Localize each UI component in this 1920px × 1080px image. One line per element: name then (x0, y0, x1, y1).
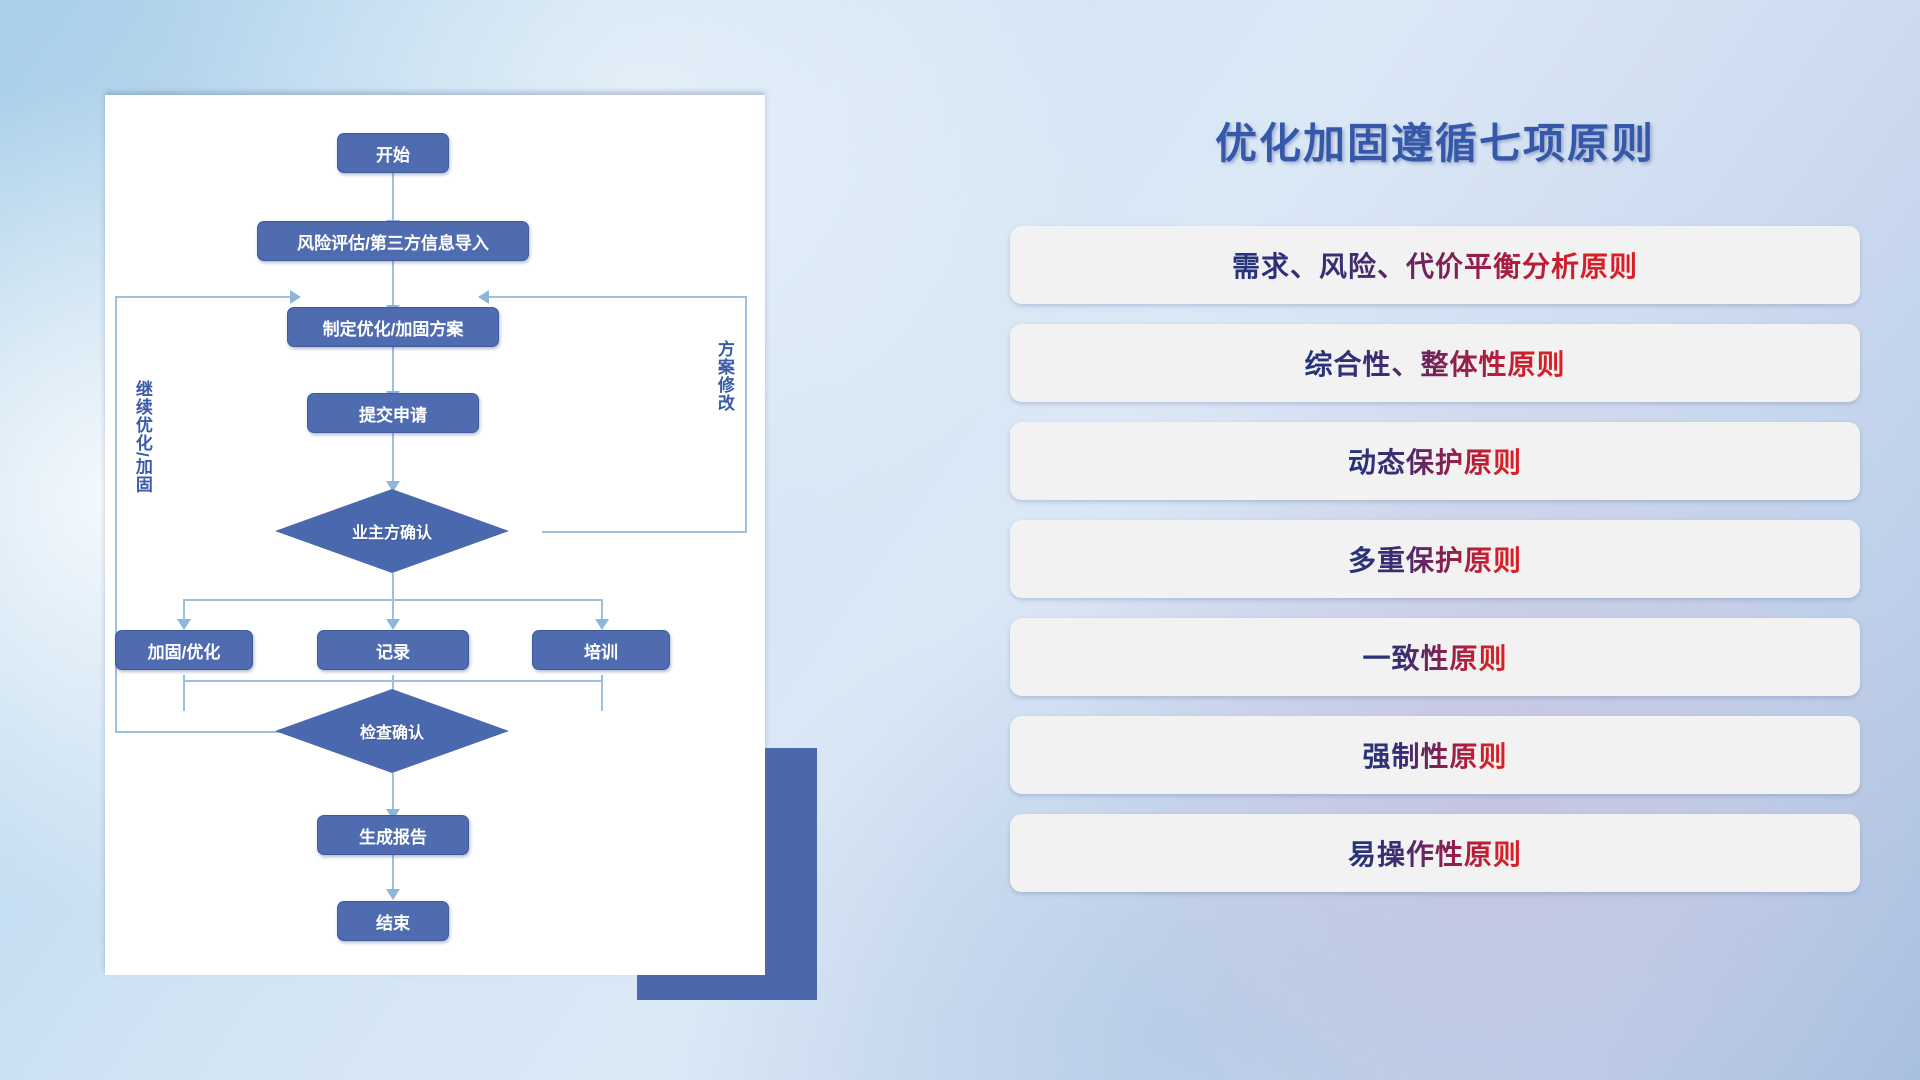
arrow-split-mid (386, 619, 400, 630)
principles-panel: 优化加固遵循七项原则 需求、风险、代价平衡分析原则 综合性、整体性原则 动态保护… (1010, 70, 1860, 1030)
principles-card-list: 需求、风险、代价平衡分析原则 综合性、整体性原则 动态保护原则 多重保护原则 一… (1010, 226, 1860, 892)
principle-card[interactable]: 多重保护原则 (1010, 520, 1860, 598)
flow-node-end[interactable]: 结束 (337, 901, 449, 941)
principle-label: 多重保护原则 (1348, 539, 1522, 579)
arrow-leftloop-plan (290, 290, 301, 304)
slide-canvas: 继续优化/加固 方案修改 (0, 0, 1920, 1080)
panel-title: 优化加固遵循七项原则 (1010, 110, 1860, 171)
flowchart-card: 继续优化/加固 方案修改 (105, 95, 765, 975)
principle-card[interactable]: 综合性、整体性原则 (1010, 324, 1860, 402)
diamond-shape (275, 689, 509, 773)
principle-card[interactable]: 一致性原则 (1010, 618, 1860, 696)
principle-label: 需求、风险、代价平衡分析原则 (1232, 245, 1638, 285)
principle-label: 强制性原则 (1362, 735, 1507, 775)
flow-node-reinforce[interactable]: 加固/优化 (115, 630, 253, 670)
principle-card[interactable]: 强制性原则 (1010, 716, 1860, 794)
principle-label: 易操作性原则 (1348, 833, 1522, 873)
principle-label: 一致性原则 (1362, 637, 1507, 677)
arrow-report-end (386, 889, 400, 900)
flow-node-owner-confirm[interactable]: 业主方确认 (275, 489, 509, 573)
connector-rightloop-into-plan (485, 296, 747, 298)
flow-node-assess[interactable]: 风险评估/第三方信息导入 (257, 221, 529, 261)
edge-label-left-loop: 继续优化/加固 (133, 380, 151, 560)
edge-label-right-loop: 方案修改 (715, 340, 733, 470)
diamond-shape (275, 489, 509, 573)
principle-card[interactable]: 需求、风险、代价平衡分析原则 (1010, 226, 1860, 304)
connector-leftloop-into-plan (115, 296, 295, 298)
principle-card[interactable]: 易操作性原则 (1010, 814, 1860, 892)
connector-ownerok-right (542, 531, 747, 533)
principle-label: 综合性、整体性原则 (1304, 343, 1565, 383)
flow-node-submit[interactable]: 提交申请 (307, 393, 479, 433)
arrow-rightloop-plan (478, 290, 489, 304)
flow-node-report[interactable]: 生成报告 (317, 815, 469, 855)
flow-node-training[interactable]: 培训 (532, 630, 670, 670)
flow-node-start[interactable]: 开始 (337, 133, 449, 173)
arrow-split-left (177, 619, 191, 630)
principle-card[interactable]: 动态保护原则 (1010, 422, 1860, 500)
connector-rightloop-up (745, 296, 747, 533)
principle-label: 动态保护原则 (1348, 441, 1522, 481)
flow-node-record[interactable]: 记录 (317, 630, 469, 670)
flow-node-plan[interactable]: 制定优化/加固方案 (287, 307, 499, 347)
connector-ownerok-down (392, 573, 394, 599)
flow-node-check-confirm[interactable]: 检查确认 (275, 689, 509, 773)
arrow-split-right (595, 619, 609, 630)
connector-start-assess (392, 173, 394, 227)
